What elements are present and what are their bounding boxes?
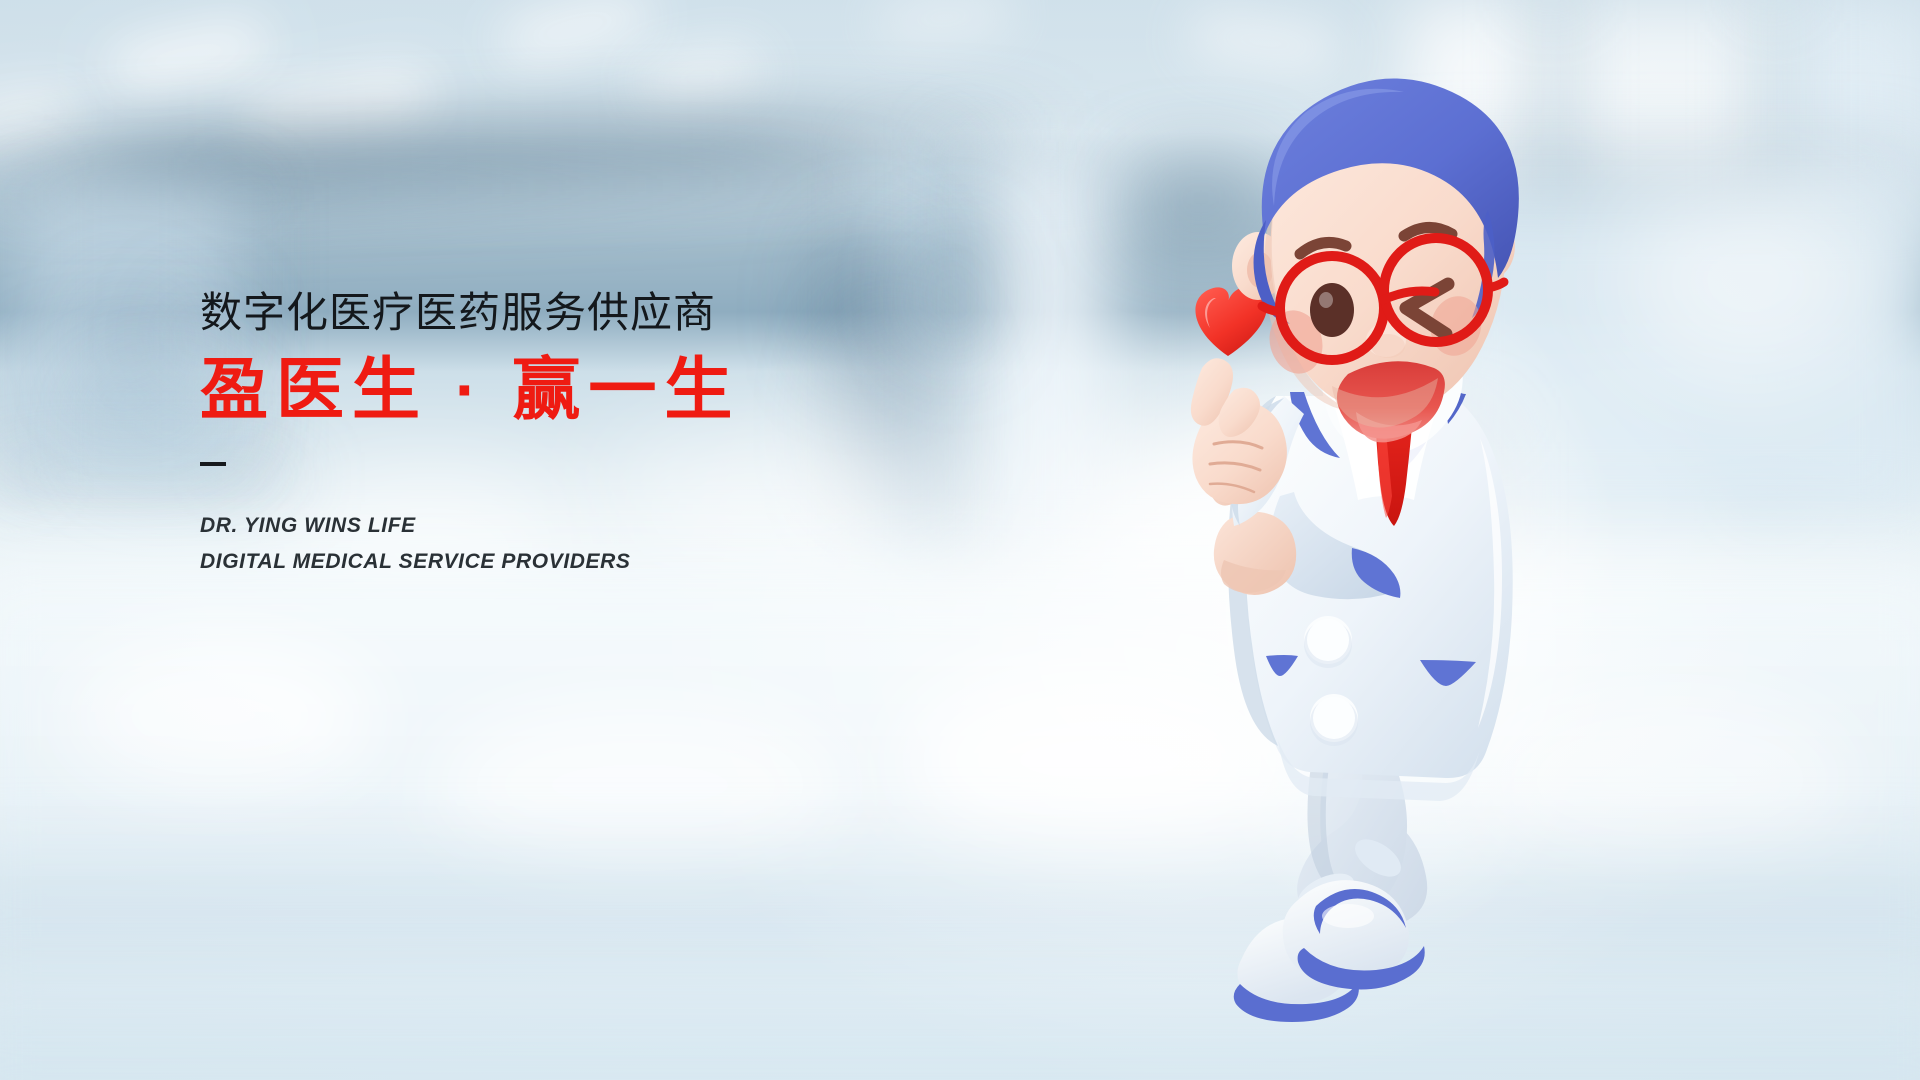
hero-kicker: 数字化医疗医药服务供应商 [200, 288, 960, 338]
shoe-highlight [1322, 904, 1374, 928]
eye-open [1310, 283, 1354, 337]
hero-headline: 盈医生 · 赢一生 [200, 352, 960, 428]
hero-copy: 数字化医疗医药服务供应商 盈医生 · 赢一生 DR. YING WINS LIF… [200, 288, 960, 581]
eye-highlight [1319, 292, 1333, 308]
coat-button [1307, 619, 1349, 661]
glasses-temple-right [1488, 282, 1504, 288]
doctor-mascot-illustration [1180, 40, 1610, 1050]
hero-english-line-2: DIGITAL MEDICAL SERVICE PROVIDERS [200, 544, 960, 581]
hero-divider-rule [200, 462, 226, 466]
hero-banner: 数字化医疗医药服务供应商 盈医生 · 赢一生 DR. YING WINS LIF… [0, 0, 1920, 1080]
coat-button [1313, 697, 1355, 739]
hero-english-line-1: DR. YING WINS LIFE [200, 508, 960, 545]
